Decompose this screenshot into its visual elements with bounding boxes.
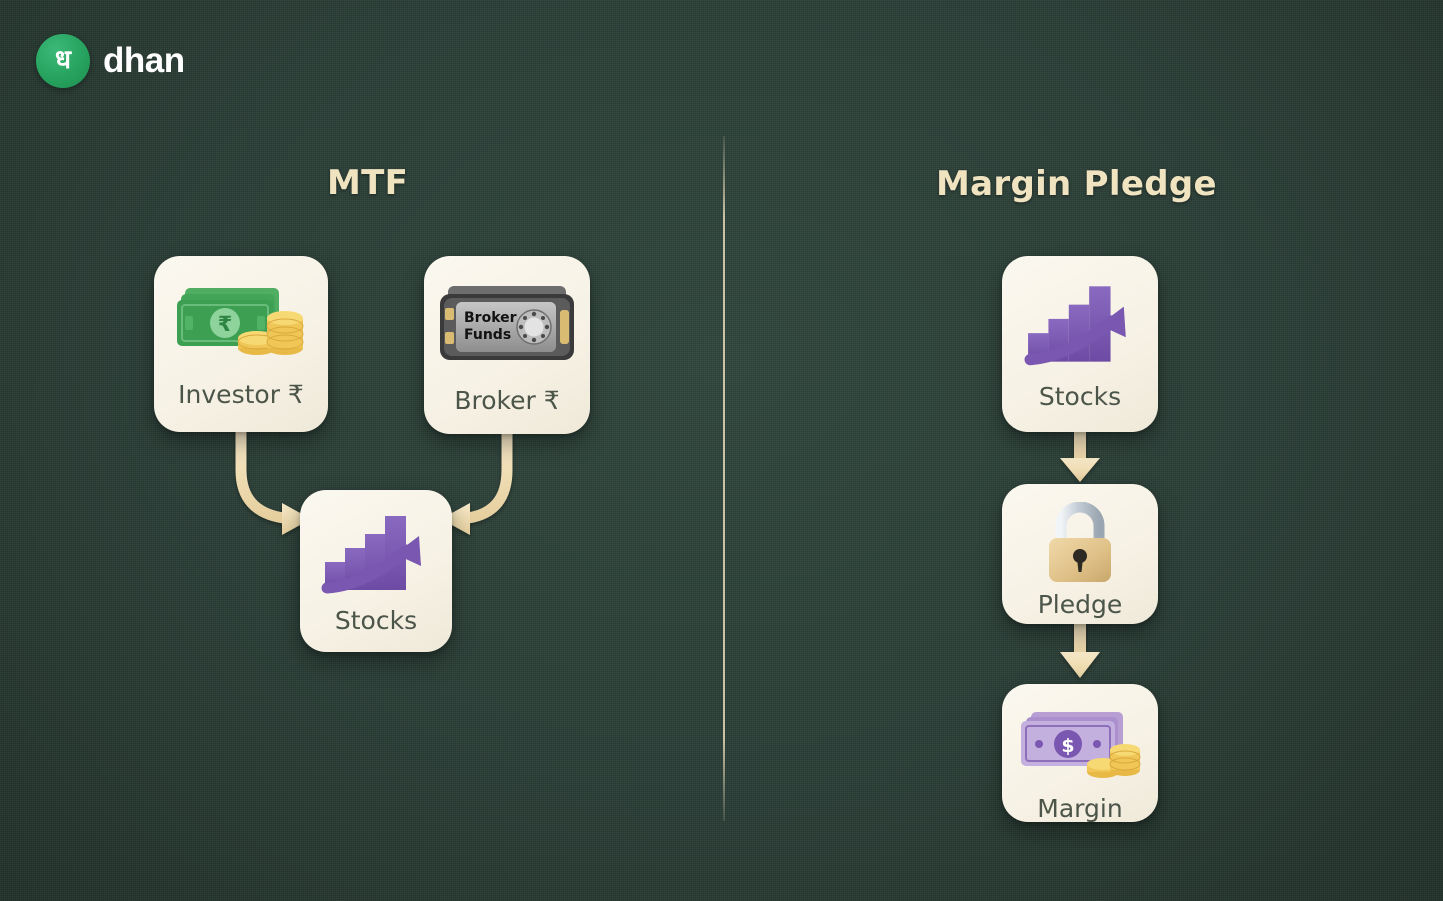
node-label-margin: Margin [1037,794,1122,823]
banknotes-rupee-coins-icon: ₹ [175,278,307,364]
safe-vault-icon: Broker Funds [434,284,580,366]
brand-logo: ध dhan [36,34,185,88]
node-label-investor: Investor ₹ [178,380,304,409]
svg-text:$: $ [1061,735,1074,757]
node-label-stocks-right: Stocks [1039,382,1121,411]
node-card-pledge[interactable]: Pledge [1002,484,1158,624]
column-title-mtf: MTF [327,163,408,203]
node-card-stocks-right[interactable]: Stocks [1002,256,1158,432]
column-title-margin-pledge: Margin Pledge [936,164,1217,204]
brand-name: dhan [103,41,185,81]
bar-chart-growth-arrow-icon [1024,280,1136,370]
node-card-broker[interactable]: Broker Funds Broker ₹ [424,256,590,434]
column-divider [723,136,725,821]
svg-text:₹: ₹ [218,312,233,336]
node-card-investor[interactable]: ₹ Investor ₹ [154,256,328,432]
bar-chart-growth-arrow-icon [321,510,431,598]
node-card-margin[interactable]: $ Margin [1002,684,1158,822]
node-label-pledge: Pledge [1038,590,1123,619]
svg-text:Funds: Funds [464,327,511,343]
dhan-mark-icon: ध [36,34,90,88]
svg-text:Broker: Broker [464,310,517,326]
node-label-stocks-left: Stocks [335,606,417,635]
padlock-icon [1036,502,1124,584]
background-canvas [0,0,1443,901]
banknotes-dollar-coins-icon: $ [1017,706,1143,784]
node-card-stocks-left[interactable]: Stocks [300,490,452,652]
node-label-broker: Broker ₹ [454,386,559,415]
